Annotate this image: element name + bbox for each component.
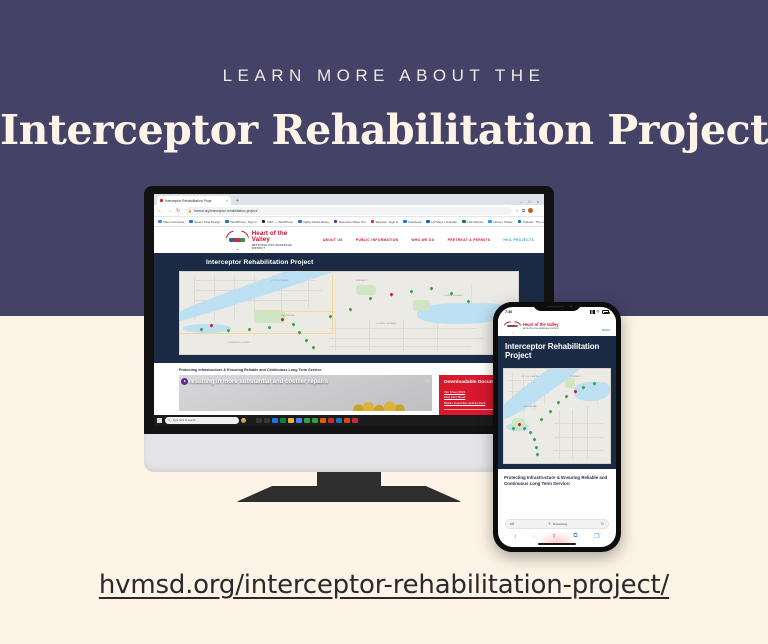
taskbar-app-icon[interactable] (336, 418, 342, 424)
taskbar-app-icon[interactable] (272, 418, 278, 424)
close-icon[interactable]: × (226, 199, 228, 203)
site-logo-text: Heart of the Valley METROPOLITAN SEWERAG… (252, 231, 297, 250)
lock-icon: 🔒 (188, 209, 192, 213)
phone-screen: 7:30 Heart of the Valley METROPOLITAN SE… (498, 307, 616, 547)
taskbar-app-icon[interactable] (280, 418, 286, 424)
browser-tab-title: Interceptor Rehabilitation Proje (165, 199, 212, 203)
bookmark-favicon-icon (189, 220, 193, 224)
bookmark-label: Server Prod Design (194, 220, 220, 224)
bookmark-label: Link Monitor (467, 220, 483, 224)
site-hero-title: Interceptor Rehabilitation Project (206, 259, 544, 266)
reload-icon[interactable]: ↻ (176, 208, 180, 214)
map-grid-line (572, 410, 573, 459)
map-marker[interactable] (291, 322, 295, 326)
phone-map-wrapper: LITTLE CHUTE KIMBERLY KAUKAUNA (498, 368, 616, 469)
bookmark-item[interactable]: HV Rays | LinkedIn (426, 220, 457, 224)
site-logo[interactable]: Heart of the Valley METROPOLITAN SEWERAG… (226, 230, 297, 250)
safari-address-bar-container: aA 🔒 hvmsd.org ↻ (498, 517, 616, 530)
heart-logo-icon[interactable] (504, 321, 521, 333)
map-park-area (413, 300, 430, 311)
bookmarks-bar: Video ConceptsServer Prod DesignWordPres… (154, 217, 544, 227)
map-road (332, 275, 333, 332)
bookmark-label: Wepsite - Sign in (376, 220, 399, 224)
bookmark-favicon-icon (262, 220, 266, 224)
bookmark-label: Facebook (408, 220, 421, 224)
battery-icon (602, 310, 609, 313)
taskbar-search-input[interactable]: 🔍 Type here to search (165, 417, 239, 424)
phone-site-logo-text: Heart of the Valley METROPOLITAN SEWERAG… (523, 323, 559, 329)
bookmark-label: Video Concepts (163, 220, 184, 224)
windows-taskbar: 🔍 Type here to search (154, 415, 544, 426)
map-marker[interactable] (532, 438, 536, 442)
window-close-icon[interactable]: × (537, 199, 539, 204)
mobile-phone: 7:30 Heart of the Valley METROPOLITAN SE… (493, 302, 621, 552)
taskbar-app-icon[interactable] (264, 418, 270, 424)
map-grid-line (329, 346, 471, 347)
taskbar-app-icon[interactable] (352, 418, 358, 424)
map-park-area (565, 378, 575, 387)
taskbar-search-placeholder: Type here to search (173, 419, 196, 422)
bookmark-favicon-icon (298, 220, 302, 224)
bookmark-favicon-icon (371, 220, 375, 224)
video-caption: resulting in more substantial and costli… (189, 379, 426, 386)
bookmark-item[interactable]: iNET — WordPress (262, 220, 293, 224)
site-nav-item[interactable]: HVIL PROJECTS (503, 238, 534, 242)
site-nav-item[interactable]: PUBLIC INFORMATION (356, 238, 399, 242)
bookmark-favicon-icon (488, 220, 492, 224)
map-marker[interactable] (529, 430, 533, 434)
site-nav-item[interactable]: WHO WE DO (411, 238, 434, 242)
map-label: COMBINED LOCKS (227, 342, 250, 344)
site-logo-subtitle: METROPOLITAN SEWERAGE DISTRICT (252, 244, 297, 250)
video-coins-graphic (352, 395, 406, 411)
map-label: KAUKAUNA (523, 406, 537, 408)
play-icon[interactable] (181, 378, 188, 385)
wifi-icon (596, 310, 600, 313)
taskbar-app-icon[interactable] (320, 418, 326, 424)
site-content-row: ☐ resulting in more substantial and cost… (179, 375, 519, 416)
phone-site-logo-name: Heart of the Valley (523, 323, 559, 327)
bookmark-favicon-icon (518, 220, 522, 224)
map-label: KIMBERLY (570, 376, 583, 378)
browser-toolbar: ← → ↻ 🔒 hvmsd.org/interceptor-rehabilita… (154, 205, 544, 217)
search-icon: 🔍 (168, 419, 171, 422)
browser-tab[interactable]: Interceptor Rehabilitation Proje × (157, 196, 231, 205)
bookmark-label: Resource Wave Pro (339, 220, 366, 224)
map-marker[interactable] (535, 453, 539, 457)
bookmark-label: iNET — WordPress (267, 220, 293, 224)
favicon-icon (160, 199, 163, 202)
map-grid-line (555, 423, 604, 424)
taskbar-app-icon[interactable] (256, 418, 262, 424)
site-logo-name: Heart of the Valley (252, 231, 297, 244)
map-label: LITTLE CHUTE (271, 280, 289, 282)
project-map[interactable]: LITTLE CHUTE KIMBERLY COMBINED LOCKS KAU… (179, 271, 519, 355)
map-marker[interactable] (304, 339, 308, 343)
safari-url-display: 🔒 hvmsd.org (514, 522, 601, 526)
map-label: LOWER CEDARS (376, 323, 396, 325)
map-marker[interactable] (369, 296, 373, 300)
page-title: Interceptor Rehabilitation Project (0, 106, 768, 154)
bookmarks-icon[interactable]: ⧉ (573, 533, 577, 540)
bookmark-item[interactable]: Home | Twitter (488, 220, 512, 224)
phone-hero-title: Interceptor Rehabilitation Project (505, 342, 609, 361)
map-park-area (356, 285, 376, 295)
map-grid-line (559, 410, 560, 459)
phone-status-icons (590, 310, 609, 313)
hamburger-menu-label: MENU (602, 329, 610, 332)
extensions-icon[interactable]: ⧉ (522, 208, 525, 213)
minimize-icon[interactable]: – (520, 199, 522, 204)
bookmark-label: Home | Twitter (493, 220, 512, 224)
bookmark-label: Agility Adobe Revie (303, 220, 329, 224)
phone-project-map[interactable]: LITTLE CHUTE KIMBERLY KAUKAUNA (503, 368, 611, 464)
avatar[interactable] (528, 208, 533, 213)
map-marker[interactable] (348, 307, 352, 311)
site-navigation: ABOUT USPUBLIC INFORMATIONWHO WE DOPRETR… (323, 238, 534, 242)
front-camera-icon (570, 305, 572, 307)
map-marker[interactable] (389, 293, 393, 297)
map-label: KAUKAUNA (281, 315, 295, 317)
map-label: LITTLE CHUTE (521, 376, 539, 378)
phone-hero-band: Interceptor Rehabilitation Project (498, 336, 616, 368)
cortana-icon[interactable] (241, 418, 246, 423)
site-hero-band: Interceptor Rehabilitation Project (154, 253, 544, 363)
bookmark-favicon-icon (403, 220, 407, 224)
maximize-icon[interactable]: □ (528, 199, 530, 204)
browser-menu-icon[interactable]: ⋮ (536, 208, 540, 213)
back-icon[interactable]: ‹ (514, 534, 516, 540)
map-grid-line (329, 338, 484, 339)
safari-domain: hvmsd.org (553, 522, 567, 526)
window-controls: – □ × (520, 199, 544, 205)
map-marker[interactable] (247, 327, 251, 331)
lock-icon: 🔒 (548, 522, 551, 525)
new-tab-icon[interactable]: + (233, 198, 242, 205)
taskbar-app-icon[interactable] (288, 418, 294, 424)
map-marker[interactable] (522, 427, 526, 431)
map-marker[interactable] (539, 417, 543, 421)
eyebrow-text: LEARN MORE ABOUT THE (0, 66, 768, 86)
bookmark-favicon-icon (158, 220, 162, 224)
map-marker[interactable] (409, 289, 413, 293)
bookmark-item[interactable]: Video Concepts (158, 220, 184, 224)
bookmark-item[interactable]: Server Prod Design (189, 220, 220, 224)
phone-section-subtitle: Protecting Infrastructure & Ensuring Rel… (504, 475, 610, 486)
site-nav-item[interactable]: PRETREAT & PERMITS (448, 238, 491, 242)
bookmark-label: HV Rays | LinkedIn (431, 220, 457, 224)
map-marker[interactable] (556, 400, 560, 404)
map-marker[interactable] (548, 410, 552, 414)
map-marker[interactable] (429, 286, 433, 290)
map-label: LOWER ISLAND (444, 295, 463, 297)
bookmark-label: WordPress - Sign in (230, 220, 257, 224)
bookmark-item[interactable]: WordPress - Sign in (225, 220, 257, 224)
back-icon[interactable]: ← (158, 208, 163, 214)
site-content-band: Protecting Infrastructure & Ensuring Rel… (154, 363, 544, 416)
cellular-signal-icon (590, 310, 595, 313)
bookmark-favicon-icon (334, 220, 338, 224)
taskbar-app-icon[interactable] (328, 418, 334, 424)
bookmark-star-icon[interactable]: ☆ (516, 208, 520, 213)
map-marker[interactable] (565, 395, 569, 399)
bookmark-item[interactable]: Resource Wave Pro (334, 220, 366, 224)
reload-icon[interactable]: ↻ (601, 522, 604, 526)
tabs-icon[interactable]: ❐ (594, 533, 599, 540)
bookmark-item[interactable]: Outlook - The Logon (518, 220, 544, 224)
map-marker[interactable] (534, 445, 538, 449)
bookmark-label: Outlook - The Logon (523, 220, 544, 224)
taskbar-app-icon[interactable] (312, 418, 318, 424)
bookmark-item[interactable]: Wepsite - Sign in (371, 220, 399, 224)
phone-site-logo-subtitle: METROPOLITAN SEWERAGE DISTRICT (523, 328, 559, 330)
site-section-subtitle: Protecting Infrastructure & Ensuring Rel… (179, 368, 519, 372)
phone-site-header: Heart of the Valley METROPOLITAN SEWERAG… (498, 317, 616, 336)
map-marker[interactable] (267, 325, 271, 329)
map-road (261, 311, 335, 312)
bookmark-item[interactable]: Facebook (403, 220, 421, 224)
phone-clock: 7:30 (505, 310, 512, 314)
map-label: KIMBERLY (356, 280, 369, 282)
footer-url[interactable]: hvmsd.org/interceptor-rehabilitation-pro… (0, 570, 768, 600)
map-grid-line (587, 406, 588, 459)
map-lake-left (183, 324, 230, 332)
phone-notch (533, 302, 581, 311)
heart-logo-icon (226, 230, 249, 250)
safari-bottom-toolbar: ‹ › ⇧ ⧉ ❐ (498, 530, 616, 543)
home-indicator[interactable] (538, 543, 576, 545)
site-nav-item[interactable]: ABOUT US (323, 238, 343, 242)
share-icon[interactable]: ⇧ (552, 533, 557, 540)
bookmark-item[interactable]: Link Monitor (462, 220, 483, 224)
map-road (180, 333, 335, 334)
map-grid-line (553, 450, 604, 451)
video-player[interactable]: ☐ resulting in more substantial and cost… (179, 375, 432, 411)
browser-toolbar-icons: ☆ ⧉ ⋮ (516, 208, 540, 213)
address-bar-url: hvmsd.org/interceptor-rehabilitation-pro… (194, 209, 258, 213)
bookmark-favicon-icon (426, 220, 430, 224)
map-grid-line (329, 328, 478, 329)
map-marker[interactable] (298, 330, 302, 334)
hamburger-menu-button[interactable]: MENU (602, 318, 610, 336)
bookmark-favicon-icon (462, 220, 466, 224)
monitor-screen: Interceptor Rehabilitation Proje × + – □… (154, 194, 544, 426)
map-lake-right (574, 382, 610, 401)
safari-address-bar[interactable]: aA 🔒 hvmsd.org ↻ (505, 519, 609, 529)
forward-icon[interactable]: → (167, 208, 172, 214)
taskbar-app-icon[interactable] (296, 418, 302, 424)
bookmark-item[interactable]: Agility Adobe Revie (298, 220, 329, 224)
map-marker[interactable] (311, 345, 315, 349)
windows-start-icon[interactable] (157, 418, 162, 423)
browser-tab-strip: Interceptor Rehabilitation Proje × + – □… (154, 194, 544, 205)
forward-icon[interactable]: › (533, 534, 535, 540)
phone-content-band: Protecting Infrastructure & Ensuring Rel… (498, 469, 616, 486)
monitor-stand-base (236, 486, 462, 502)
taskbar-app-icon[interactable] (304, 418, 310, 424)
taskbar-app-icon[interactable] (344, 418, 350, 424)
address-bar[interactable]: 🔒 hvmsd.org/interceptor-rehabilitation-p… (184, 207, 511, 215)
site-header: Heart of the Valley METROPOLITAN SEWERAG… (154, 227, 544, 253)
map-grid-line (555, 437, 604, 438)
earpiece-speaker-icon (547, 306, 564, 308)
bookmark-favicon-icon (225, 220, 229, 224)
